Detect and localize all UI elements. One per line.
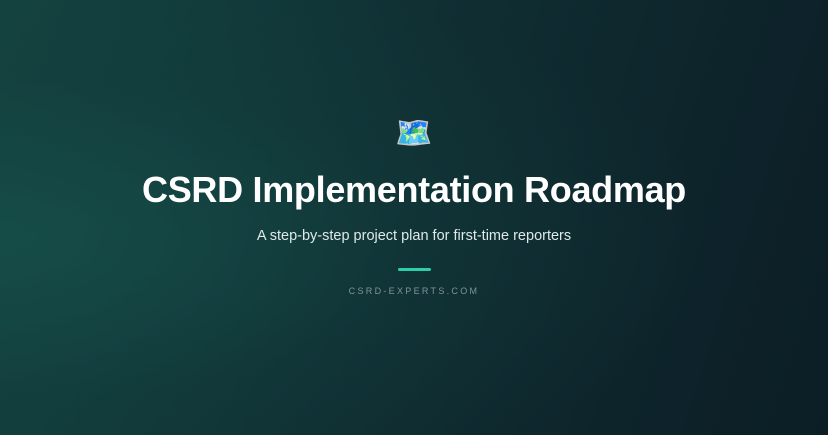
- accent-divider: [398, 268, 431, 271]
- hero-block: 🗺️ CSRD Implementation Roadmap A step-by…: [0, 117, 828, 296]
- title-slide: 🗺️ CSRD Implementation Roadmap A step-by…: [0, 0, 828, 435]
- page-title: CSRD Implementation Roadmap: [142, 170, 686, 210]
- world-map-icon: 🗺️: [395, 117, 432, 150]
- footer-brand: CSRD-EXPERTS.COM: [349, 286, 480, 296]
- page-subtitle: A step-by-step project plan for first-ti…: [257, 226, 571, 246]
